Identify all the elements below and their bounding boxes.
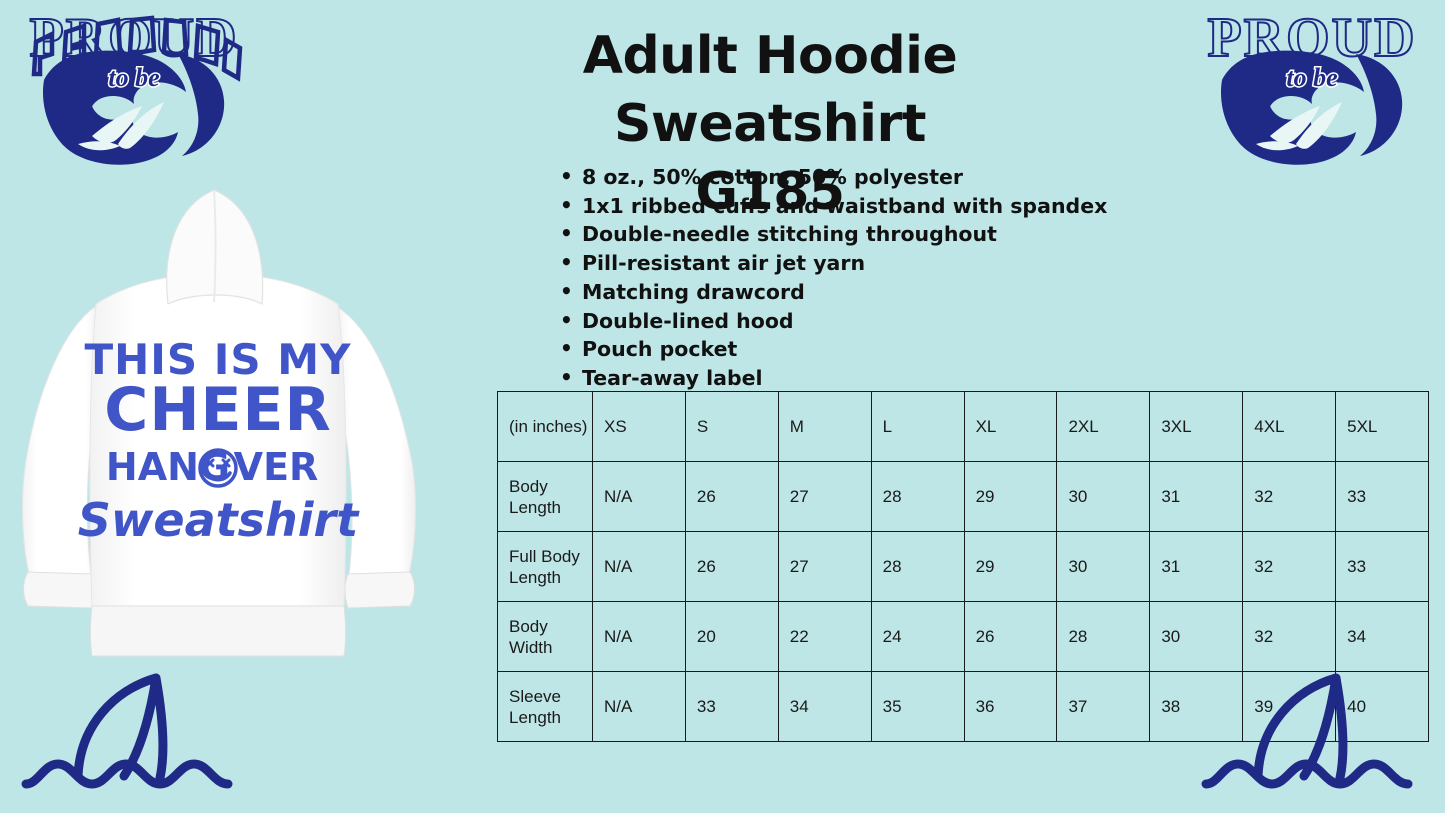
table-header-row: (in inches) XS S M L XL 2XL 3XL 4XL 5XL: [498, 392, 1429, 462]
unit-header: (in inches): [498, 392, 593, 462]
table-row: Body Length N/A 26 27 28 29 30 31 32 33: [498, 462, 1429, 532]
cell: N/A: [593, 672, 686, 742]
logo-script-to-be: to be: [108, 63, 159, 92]
cell: 30: [1057, 532, 1150, 602]
size-header-s: S: [685, 392, 778, 462]
cell: 27: [778, 532, 871, 602]
svg-text:to be: to be: [108, 63, 159, 92]
fin-shape: [1258, 678, 1336, 776]
cell: 36: [964, 672, 1057, 742]
print-line-4: Sweatshirt: [78, 493, 360, 547]
hoodie-graphic: THIS IS MY CHEER HANG VER Sweatshirt: [0, 178, 488, 683]
size-header-2xl: 2XL: [1057, 392, 1150, 462]
size-header-xs: XS: [593, 392, 686, 462]
hoodie-cuff-left: [24, 572, 96, 608]
list-item: Pouch pocket: [560, 335, 1120, 364]
shark-fin-wave-right: [1196, 660, 1445, 800]
logo-wordmark-text: PROUD: [29, 8, 238, 69]
cell: 29: [964, 462, 1057, 532]
feature-list: 8 oz., 50% cotton, 50% polyester 1x1 rib…: [560, 163, 1120, 393]
row-label: Body Width: [498, 602, 593, 672]
cell: 32: [1243, 462, 1336, 532]
cell: 28: [1057, 602, 1150, 672]
hoodie-waistband: [91, 606, 346, 656]
row-label: Body Length: [498, 462, 593, 532]
size-header-4xl: 4XL: [1243, 392, 1336, 462]
cell: 26: [685, 462, 778, 532]
list-item: Matching drawcord: [560, 278, 1120, 307]
print-line-2: CHEER: [104, 375, 331, 445]
logo-wordmark-text: PROUD: [1207, 8, 1416, 69]
cell: 33: [1336, 462, 1429, 532]
table-row: Full Body Length N/A 26 27 28 29 30 31 3…: [498, 532, 1429, 602]
proud-to-be-logo-right: PROUD to be: [1196, 8, 1428, 176]
size-header-m: M: [778, 392, 871, 462]
cell: 27: [778, 462, 871, 532]
list-item: Double-needle stitching throughout: [560, 220, 1120, 249]
size-header-xl: XL: [964, 392, 1057, 462]
cell: 28: [871, 532, 964, 602]
fin-shape: [78, 678, 156, 776]
shark-fin-wave-left: [16, 660, 266, 800]
list-item: Tear-away label: [560, 364, 1120, 393]
cell: N/A: [593, 532, 686, 602]
fin-back-edge: [156, 678, 163, 778]
cell: 30: [1057, 462, 1150, 532]
title-line-1: Adult Hoodie Sweatshirt: [440, 22, 1100, 158]
cell: 20: [685, 602, 778, 672]
row-label: Full Body Length: [498, 532, 593, 602]
logo-script-to-be: to be: [1286, 63, 1337, 92]
size-header-3xl: 3XL: [1150, 392, 1243, 462]
logo-graphic: PROUD to be: [1196, 8, 1428, 176]
size-chart-canvas: PROUD to be PROUD to be: [0, 0, 1445, 813]
list-item: 1x1 ribbed cuffs and waistband with span…: [560, 192, 1120, 221]
product-photo-hoodie: THIS IS MY CHEER HANG VER Sweatshirt: [0, 178, 488, 683]
cell: 26: [964, 602, 1057, 672]
print-line-3b: VER: [234, 445, 319, 489]
svg-text:to be: to be: [1286, 63, 1337, 92]
svg-text:PROUD: PROUD: [1207, 8, 1416, 69]
cell: 35: [871, 672, 964, 742]
cell: 24: [871, 602, 964, 672]
proud-to-be-logo-left: PROUD to be: [18, 8, 250, 176]
cell: 31: [1150, 462, 1243, 532]
list-item: 8 oz., 50% cotton, 50% polyester: [560, 163, 1120, 192]
cell: 22: [778, 602, 871, 672]
fin-back-edge: [1336, 678, 1343, 778]
cell: 29: [964, 532, 1057, 602]
shark-fin-wave-icon: [1196, 660, 1445, 800]
row-label: Sleeve Length: [498, 672, 593, 742]
cell: 32: [1243, 532, 1336, 602]
list-item: Pill-resistant air jet yarn: [560, 249, 1120, 278]
size-header-5xl: 5XL: [1336, 392, 1429, 462]
logo-graphic: PROUD to be: [18, 8, 250, 176]
cell: 31: [1150, 532, 1243, 602]
cell: 26: [685, 532, 778, 602]
size-header-l: L: [871, 392, 964, 462]
cell: 34: [778, 672, 871, 742]
cell: 28: [871, 462, 964, 532]
logo-proud-text: PROUD: [29, 8, 238, 69]
cell: 33: [685, 672, 778, 742]
list-item: Double-lined hood: [560, 307, 1120, 336]
shark-fin-wave-icon: [16, 660, 266, 800]
cell: 33: [1336, 532, 1429, 602]
cell: 37: [1057, 672, 1150, 742]
cell: N/A: [593, 462, 686, 532]
cell: N/A: [593, 602, 686, 672]
hoodie-print-design: THIS IS MY CHEER HANG VER Sweatshirt: [78, 335, 360, 547]
hoodie-cuff-right: [345, 572, 415, 608]
